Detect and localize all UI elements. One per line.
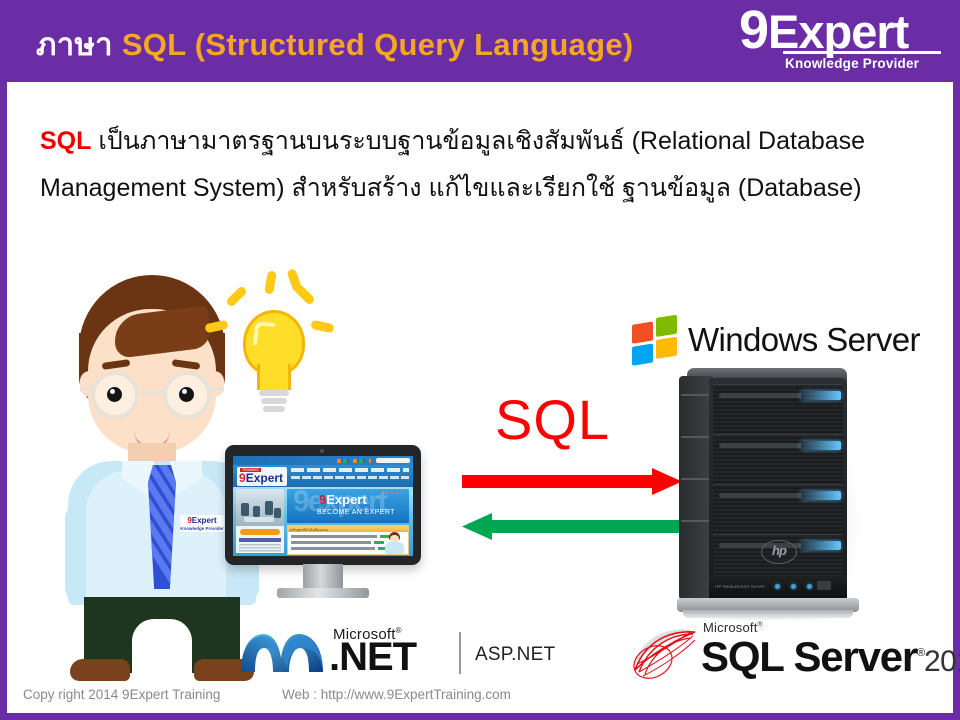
- arrow-request-to-server: [462, 468, 682, 494]
- page-title: ภาษา SQL (Structured Query Language): [36, 19, 634, 69]
- monitor-bezel: TRAINING 9Expert: [225, 445, 421, 565]
- sql-server-mark-icon: [627, 622, 699, 680]
- site-nav[interactable]: [291, 468, 409, 472]
- server-front-panel: hp: [709, 378, 847, 600]
- sql-server-logo: Microsoft® SQL Server®2012: [627, 618, 927, 690]
- footer-copyright: Copy right 2014 9Expert Training: [23, 687, 220, 702]
- server-model-label: HP MediaSmart Server: [715, 584, 765, 589]
- desktop-monitor: TRAINING 9Expert: [225, 445, 425, 610]
- sql-server-product-text: SQL Server: [701, 633, 917, 680]
- page-title-english: SQL (Structured Query Language): [122, 27, 634, 62]
- sql-server-product-tm: ®: [917, 647, 924, 659]
- windows-server-logo: Windows Server: [632, 318, 902, 370]
- bulb-ray-1: [264, 270, 277, 294]
- windows-flag-icon: [632, 317, 680, 369]
- body-paragraph: SQL เป็นภาษามาตรฐานบนระบบฐานข้อมูลเชิงสั…: [40, 118, 920, 212]
- site-logo[interactable]: TRAINING 9Expert: [237, 467, 287, 486]
- aspnet-label: ASP.NET: [475, 644, 555, 666]
- badge-rest: Expert: [192, 516, 217, 525]
- slide-footer: Copy right 2014 9Expert Training Web : h…: [17, 687, 947, 707]
- lightbulb-icon: [197, 278, 342, 418]
- site-course-row[interactable]: [291, 547, 375, 550]
- badge-tagline: Knowledge Provider: [180, 526, 224, 531]
- character-shoe-left: [70, 659, 130, 681]
- brand-logo-tagline: Knowledge Provider: [785, 56, 943, 71]
- site-topbar: [233, 456, 413, 465]
- dotnet-microsoft-tm: ®: [396, 626, 402, 635]
- sql-server-microsoft-tm: ®: [758, 622, 763, 629]
- site-hero-tagline: BECOME AN EXPERT: [317, 509, 395, 516]
- windows-server-text: Windows Server: [688, 320, 920, 360]
- bulb-screw-2: [261, 398, 287, 404]
- server-bottom-bar: HP MediaSmart Server: [709, 576, 847, 600]
- site-cta-button[interactable]: [240, 529, 280, 535]
- brand-logo-nine: 9: [739, 0, 768, 60]
- monitor-stand: [303, 564, 343, 590]
- server-side-panel: [679, 376, 713, 600]
- paragraph-highlight: SQL: [40, 127, 91, 155]
- site-classroom-photo: [236, 489, 284, 526]
- site-sidebar: [236, 489, 284, 553]
- bulb-screw-1: [259, 390, 289, 396]
- dotnet-logo: Microsoft® .NET ASP.NET: [237, 624, 517, 686]
- site-sidebar-heading: [239, 538, 281, 542]
- character-eye-right: [179, 387, 194, 402]
- arrow-response-from-server: [462, 513, 682, 539]
- character-eye-left: [107, 387, 122, 402]
- site-course-panel: หลักสูตรที่กำลังเปิดอบรม: [287, 525, 409, 555]
- server-drive-bay: [713, 484, 843, 533]
- character-name-badge: 9Expert Knowledge Provider: [180, 515, 224, 532]
- bulb-highlight: [253, 321, 275, 347]
- hp-logo: hp: [761, 540, 797, 564]
- dotnet-ribbon-icon: [237, 628, 329, 678]
- site-mascot: [382, 532, 406, 554]
- site-hero-pager[interactable]: [381, 492, 405, 494]
- bulb-ray-2: [225, 285, 248, 308]
- server-usb-port: [817, 581, 831, 590]
- sql-flow-label: SQL: [495, 392, 610, 448]
- site-subnav: [291, 476, 409, 479]
- bulb-ray-6: [286, 268, 302, 293]
- dotnet-product-label: .NET: [329, 636, 416, 678]
- site-logo-nine: 9: [239, 471, 246, 485]
- slide-header: ภาษา SQL (Structured Query Language) 9Ex…: [0, 0, 960, 82]
- site-course-row[interactable]: [291, 541, 371, 544]
- monitor-base: [277, 588, 369, 598]
- site-search-input[interactable]: [376, 458, 410, 463]
- footer-web: Web : http://www.9ExpertTraining.com: [282, 687, 511, 702]
- server-drive-bay: [713, 384, 843, 433]
- slide-canvas: ภาษา SQL (Structured Query Language) 9Ex…: [0, 0, 960, 720]
- site-hero-rest: Expert: [326, 492, 366, 507]
- brand-logo-9expert: 9Expert Knowledge Provider: [739, 6, 944, 76]
- site-course-heading-text: หลักสูตรที่กำลังเปิดอบรม: [290, 527, 328, 533]
- brand-logo-wordmark: 9Expert: [739, 4, 944, 56]
- paragraph-text: เป็นภาษามาตรฐานบนระบบฐานข้อมูลเชิงสัมพัน…: [40, 127, 865, 202]
- sql-server-product-label: SQL Server®2012: [701, 630, 960, 685]
- bulb-screw-3: [263, 406, 285, 412]
- site-logo-rest: Expert: [246, 471, 283, 485]
- character-trousers-gap: [132, 619, 192, 677]
- bulb-neck: [257, 364, 291, 390]
- server-tower: hp HP MediaSmart Server: [679, 368, 857, 628]
- bulb-ray-5: [310, 320, 334, 334]
- page-title-thai: ภาษา: [36, 27, 113, 62]
- brand-logo-underline: [783, 51, 941, 54]
- server-base-reflection: [683, 610, 853, 618]
- monitor-screen: TRAINING 9Expert: [233, 456, 413, 556]
- site-sidebar-text: [239, 544, 281, 553]
- monitor-camera: [320, 449, 324, 453]
- bulb-ray-3: [204, 320, 228, 334]
- server-drive-bay: [713, 434, 843, 483]
- site-social-icons: [337, 459, 371, 463]
- glasses-bridge: [139, 391, 165, 395]
- logo-divider: [459, 632, 461, 674]
- windows-server-label: Windows Server: [688, 321, 920, 358]
- site-course-row[interactable]: [291, 535, 377, 538]
- site-hero-banner: 9expert 9Expert BECOME AN EXPERT: [287, 489, 409, 523]
- sql-server-year: 2012: [924, 645, 960, 678]
